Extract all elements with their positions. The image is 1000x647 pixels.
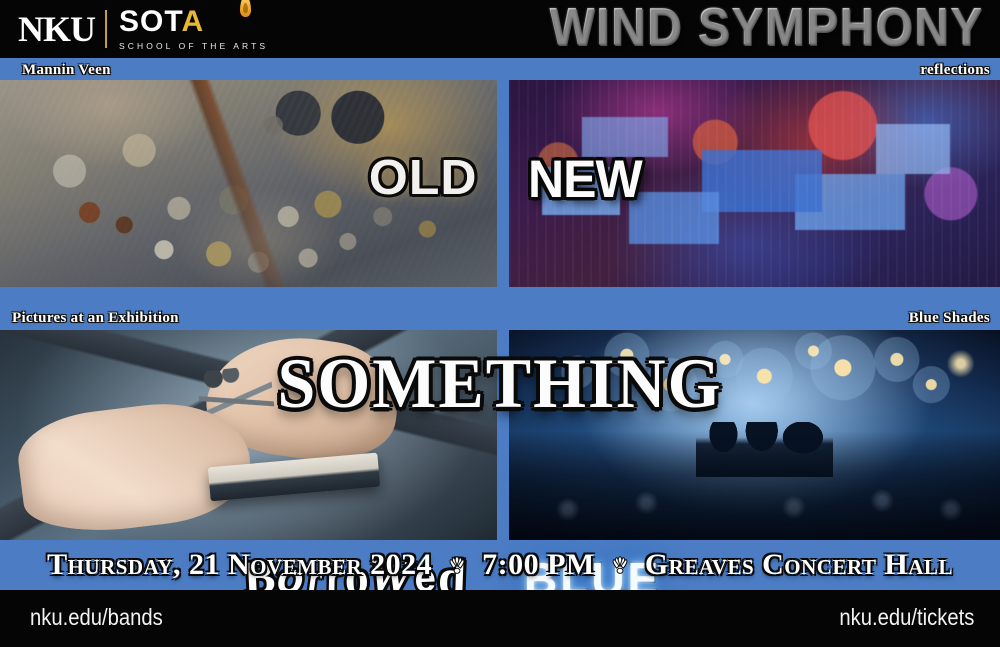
tickets-url[interactable]: nku.edu/tickets (839, 604, 974, 631)
poster-header: NKU SOTA SCHOOL OF THE ARTS WIND SYMPHON… (0, 0, 1000, 58)
word-old: OLD (369, 150, 478, 206)
ensemble-title: WIND SYMPHONY (550, 0, 984, 61)
poster-footer: nku.edu/bands nku.edu/tickets (0, 590, 1000, 647)
sota-gold-a: A (181, 5, 204, 38)
bands-url[interactable]: nku.edu/bands (30, 604, 163, 631)
poster-body: Mannin Veen reflections Pictures at an E… (0, 58, 1000, 590)
band-silhouettes (696, 422, 833, 477)
fleuron-ornament-icon (446, 554, 468, 576)
event-time: 7:00 PM (482, 548, 595, 582)
sota-subtitle: SCHOOL OF THE ARTS (119, 41, 268, 51)
flame-icon (240, 0, 251, 17)
fleuron-ornament-icon-2 (609, 554, 631, 576)
word-new: NEW (528, 149, 642, 210)
caption-reflections: reflections (920, 62, 990, 79)
nku-sota-logo: NKU SOTA SCHOOL OF THE ARTS (18, 6, 268, 52)
caption-mannin-veen: Mannin Veen (22, 62, 111, 79)
word-something: SOMETHING (278, 342, 723, 425)
logo-divider (105, 10, 107, 48)
concert-poster: NKU SOTA SCHOOL OF THE ARTS WIND SYMPHON… (0, 0, 1000, 647)
event-venue: Greaves Concert Hall (645, 548, 953, 582)
caption-blue-shades: Blue Shades (909, 310, 990, 327)
event-details-bar: Thursday, 21 November 2024 7:00 PM (0, 540, 1000, 590)
caption-pictures-at-an-exhibition: Pictures at an Exhibition (12, 310, 179, 327)
event-date: Thursday, 21 November 2024 (47, 548, 432, 582)
nku-wordmark: NKU (18, 11, 99, 47)
